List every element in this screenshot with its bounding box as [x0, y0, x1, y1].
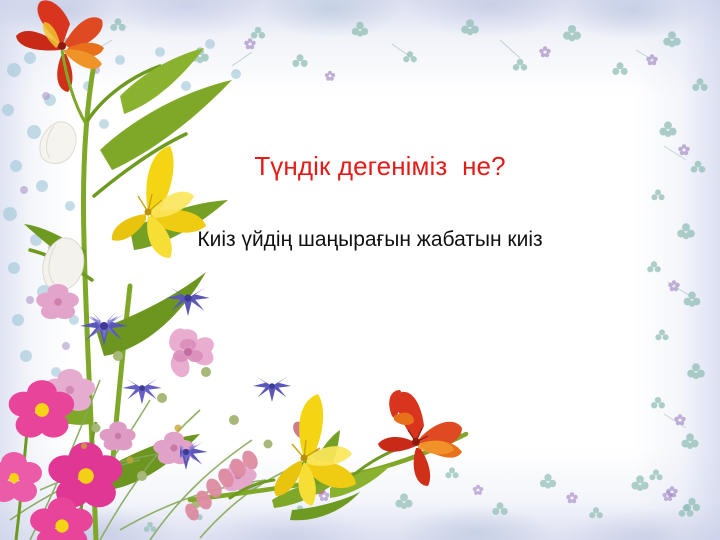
slide-body-text: Киіз үйдің шаңырағын жабатын киіз: [150, 226, 590, 254]
slide-title: Түндік дегеніміз не?: [120, 150, 640, 182]
presentation-slide: Түндік дегеніміз не? Киіз үйдің шаңырағы…: [0, 0, 720, 540]
slide-content: Түндік дегеніміз не? Киіз үйдің шаңырағы…: [0, 0, 720, 540]
